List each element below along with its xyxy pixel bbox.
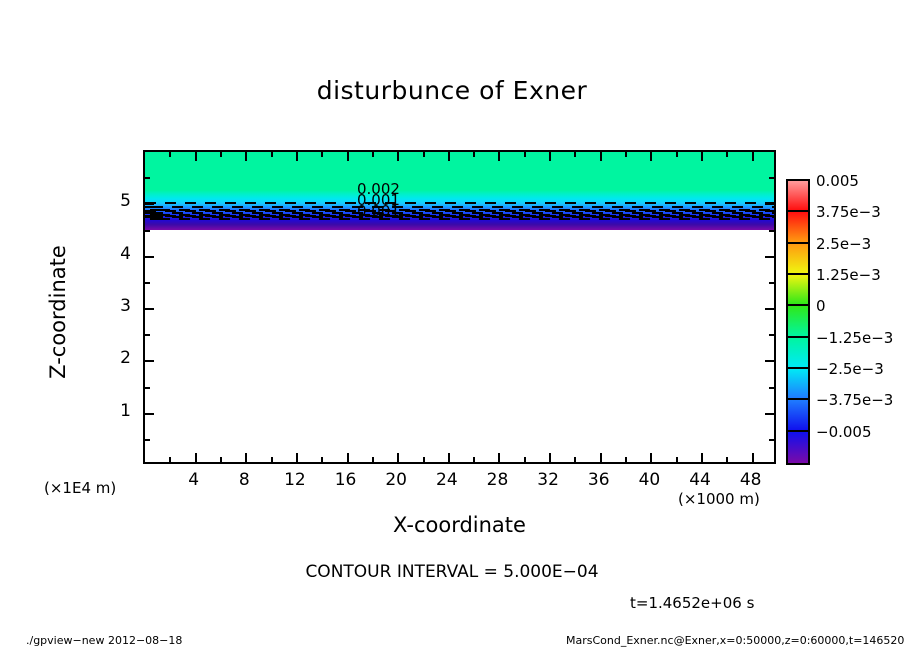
y-tick: [769, 282, 774, 284]
y-tick: [769, 230, 774, 232]
x-tick: [701, 453, 703, 462]
y-tick: [145, 282, 150, 284]
x-tick: [600, 453, 602, 462]
x-tick-label: 36: [579, 470, 619, 490]
x-tick: [397, 152, 399, 161]
x-tick-label: 12: [275, 470, 315, 490]
x-tick: [752, 453, 754, 462]
colorbar-band: [788, 181, 808, 212]
colorbar-tick-label: 2.5e−3: [816, 235, 871, 253]
x-tick: [448, 453, 450, 462]
x-tick: [195, 453, 197, 462]
x-tick: [321, 457, 323, 462]
x-tick: [473, 457, 475, 462]
footer-source: MarsCond_Exner.nc@Exner,x=0:50000,z=0:60…: [566, 634, 904, 647]
page-title: disturbunce of Exner: [0, 76, 904, 105]
y-tick: [145, 334, 150, 336]
y-axis-title: Z-coordinate: [46, 212, 70, 412]
x-tick: [752, 152, 754, 161]
x-tick: [676, 457, 678, 462]
x-tick: [650, 453, 652, 462]
colorbar-tick-label: 0.005: [816, 172, 859, 190]
x-tick-label: 44: [680, 470, 720, 490]
x-tick: [220, 152, 222, 157]
x-tick: [296, 152, 298, 161]
y-tick-label: 1: [103, 401, 131, 421]
colorbar-tick-label: −3.75e−3: [816, 391, 893, 409]
y-tick: [145, 177, 150, 179]
x-tick: [220, 457, 222, 462]
x-tick: [574, 152, 576, 157]
colorbar-tick-label: −1.25e−3: [816, 329, 893, 347]
colorbar-band: [788, 212, 808, 243]
colorbar-tick-label: −0.005: [816, 423, 872, 441]
y-tick: [765, 413, 774, 415]
x-tick-label: 24: [427, 470, 467, 490]
x-axis-title: X-coordinate: [143, 513, 776, 537]
y-tick: [145, 387, 150, 389]
colorbar-band: [788, 338, 808, 369]
y-tick: [145, 413, 154, 415]
x-tick: [245, 453, 247, 462]
colorbar-tick-label: −2.5e−3: [816, 360, 884, 378]
x-tick: [423, 457, 425, 462]
colorbar: [786, 179, 810, 465]
x-tick: [701, 152, 703, 161]
y-tick: [145, 203, 154, 205]
colorbar-band: [788, 306, 808, 337]
x-tick: [397, 453, 399, 462]
contour-interval-note: CONTOUR INTERVAL = 5.000E−04: [0, 562, 904, 582]
x-tick-label: 48: [731, 470, 771, 490]
y-tick: [765, 256, 774, 258]
x-tick: [726, 457, 728, 462]
colorbar-tick-label: 3.75e−3: [816, 203, 881, 221]
x-tick: [498, 152, 500, 161]
y-tick-label: 3: [103, 296, 131, 316]
x-tick: [245, 152, 247, 161]
x-tick: [321, 152, 323, 157]
x-tick: [549, 453, 551, 462]
x-tick: [169, 457, 171, 462]
plot-area: 0.0020.0010.001: [143, 150, 776, 464]
colorbar-band: [788, 369, 808, 400]
colorbar-band: [788, 400, 808, 431]
y-tick: [145, 439, 150, 441]
x-tick: [448, 152, 450, 161]
timestamp-note: t=1.4652e+06 s: [630, 594, 754, 612]
x-tick: [423, 152, 425, 157]
x-tick: [650, 152, 652, 161]
x-tick: [726, 152, 728, 157]
y-tick: [145, 230, 150, 232]
x-tick-label: 32: [528, 470, 568, 490]
x-tick: [524, 457, 526, 462]
x-tick: [271, 457, 273, 462]
x-tick: [473, 152, 475, 157]
colorbar-band: [788, 275, 808, 306]
colorbar-tick-label: 1.25e−3: [816, 266, 881, 284]
y-tick: [769, 439, 774, 441]
x-tick-label: 8: [224, 470, 264, 490]
y-tick: [145, 360, 154, 362]
x-tick: [347, 152, 349, 161]
y-tick: [769, 177, 774, 179]
x-tick: [676, 152, 678, 157]
y-axis-unit: (×1E4 m): [44, 479, 116, 497]
y-tick-label: 4: [103, 244, 131, 264]
x-tick: [625, 152, 627, 157]
x-tick-label: 40: [629, 470, 669, 490]
y-tick: [769, 334, 774, 336]
colorbar-band: [788, 432, 808, 463]
y-tick: [145, 256, 154, 258]
x-tick-label: 20: [376, 470, 416, 490]
x-tick: [169, 152, 171, 157]
x-tick-label: 4: [174, 470, 214, 490]
contour-label: 0.001: [357, 202, 400, 220]
colorbar-tick-label: 0: [816, 297, 826, 315]
x-tick: [600, 152, 602, 161]
x-tick-label: 16: [326, 470, 366, 490]
x-axis-unit: (×1000 m): [678, 490, 760, 508]
x-tick: [195, 152, 197, 161]
y-tick: [765, 203, 774, 205]
y-tick-label: 2: [103, 348, 131, 368]
x-tick: [296, 453, 298, 462]
x-tick-label: 28: [477, 470, 517, 490]
y-tick-label: 5: [103, 191, 131, 211]
y-tick: [769, 387, 774, 389]
x-tick: [372, 457, 374, 462]
x-tick: [347, 453, 349, 462]
footer-command: ./gpview−new 2012−08−18: [26, 634, 182, 647]
y-tick: [145, 308, 154, 310]
x-tick: [549, 152, 551, 161]
x-tick: [574, 457, 576, 462]
x-tick: [524, 152, 526, 157]
x-tick: [625, 457, 627, 462]
contour-label-group: 0.0020.0010.001: [357, 180, 477, 230]
y-tick: [765, 308, 774, 310]
y-tick: [765, 360, 774, 362]
x-tick: [271, 152, 273, 157]
x-tick: [498, 453, 500, 462]
colorbar-band: [788, 244, 808, 275]
x-tick: [372, 152, 374, 157]
